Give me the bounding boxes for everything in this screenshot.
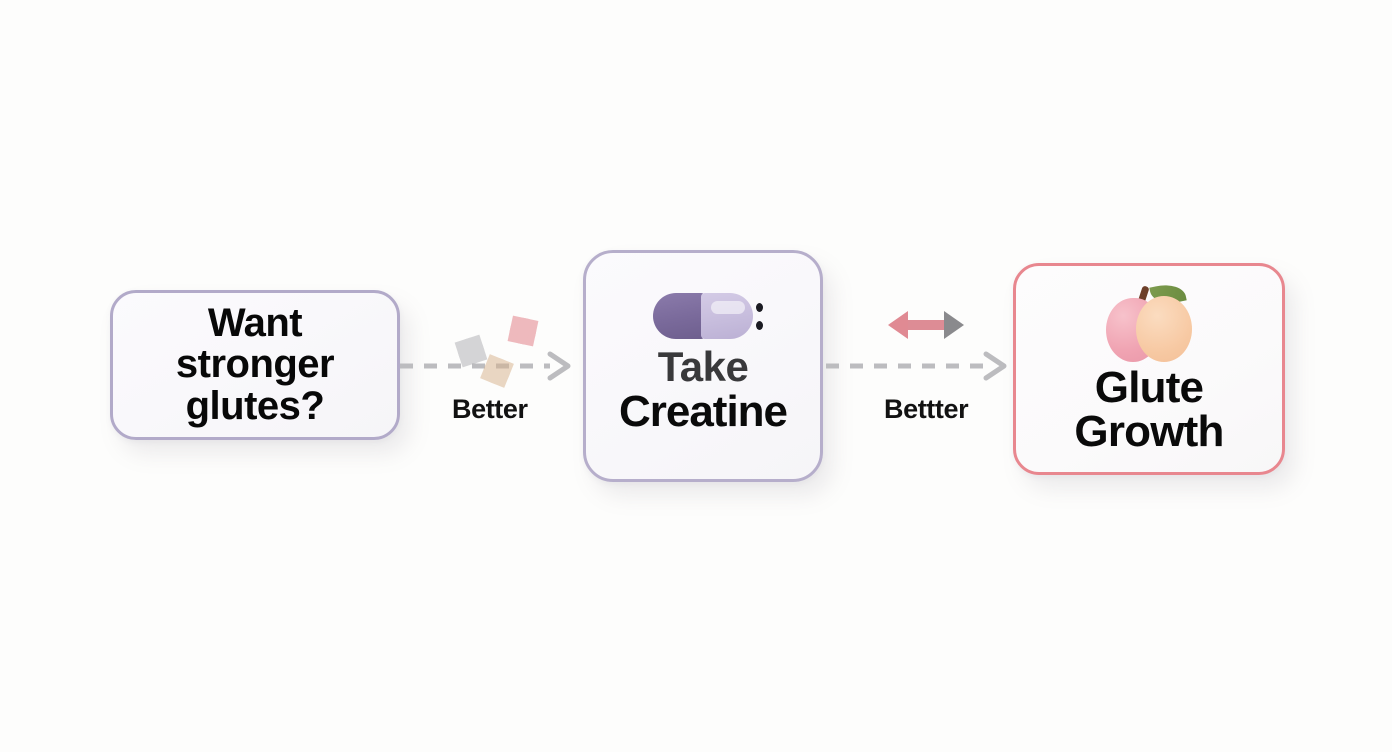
double-arrow-left-head (888, 311, 908, 339)
node-glute-growth[interactable]: Glute Growth (1013, 263, 1285, 475)
double-arrow-right-head (944, 311, 964, 339)
pill-capsule-icon (653, 293, 753, 339)
double-arrow-shaft (908, 320, 946, 330)
node-result-line-1: Glute (1095, 366, 1203, 410)
edge-2-arrowhead (986, 354, 1004, 378)
node-want-stronger-glutes[interactable]: Want stronger glutes? (110, 290, 400, 440)
pill-dot-lower (756, 321, 763, 330)
node-question-line-1: Want stronger (113, 303, 397, 386)
ghost-sticker-red (508, 316, 539, 347)
node-take-creatine[interactable]: Take Creatine (583, 250, 823, 482)
connector-question-to-action (398, 352, 580, 380)
edge-label-better-2: Bettter (884, 394, 968, 425)
pill-dot-upper (756, 303, 763, 312)
peach-lobe-right (1136, 296, 1192, 362)
pill-dark-half (653, 293, 705, 339)
edge-1-arrowhead (550, 354, 568, 378)
node-action-line-2: Creatine (619, 389, 787, 435)
node-action-line-1: Take (658, 345, 749, 389)
pill-highlight (711, 301, 745, 314)
node-question-line-2: glutes? (172, 386, 339, 428)
left-right-arrow-icon (886, 308, 966, 342)
edge-label-better-1: Better (452, 394, 528, 425)
peach-icon (1106, 284, 1192, 364)
pill-light-half (701, 293, 753, 339)
node-result-line-2: Growth (1074, 410, 1223, 454)
connector-action-to-result (824, 352, 1014, 380)
diagram-canvas: Want stronger glutes? Better Take Creati… (0, 0, 1392, 752)
